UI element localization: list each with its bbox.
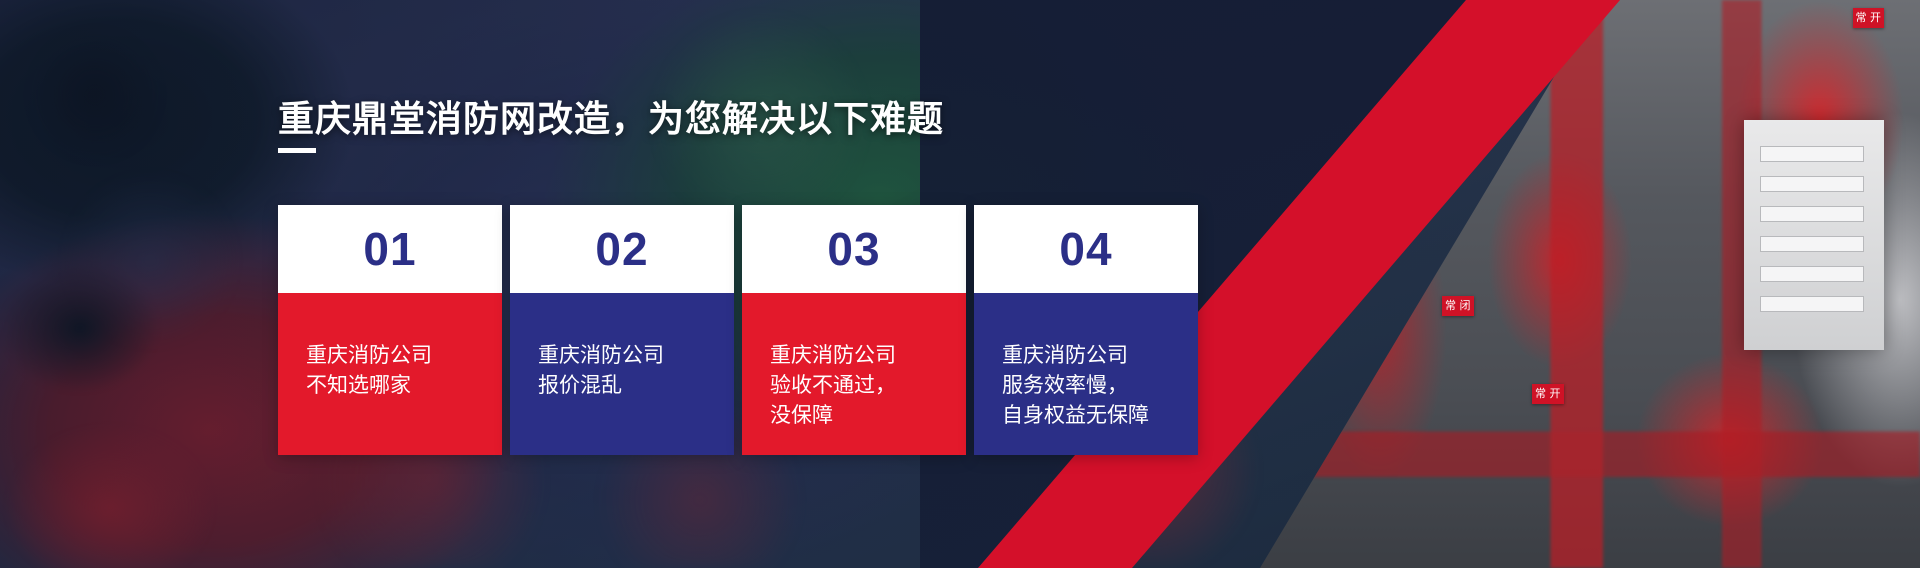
title-underline-rule (278, 148, 316, 153)
page-title: 重庆鼎堂消防网改造，为您解决以下难题 (278, 90, 944, 142)
problem-card-04[interactable]: 04 重庆消防公司 服务效率慢， 自身权益无保障 (974, 205, 1198, 455)
card-text-01: 重庆消防公司 不知选哪家 (278, 293, 502, 455)
card-text-02: 重庆消防公司 报价混乱 (510, 293, 734, 455)
problem-card-01[interactable]: 01 重庆消防公司 不知选哪家 (278, 205, 502, 455)
problem-card-02[interactable]: 02 重庆消防公司 报价混乱 (510, 205, 734, 455)
card-number-01: 01 (278, 205, 502, 293)
card-number-03: 03 (742, 205, 966, 293)
card-text-03: 重庆消防公司 验收不通过， 没保障 (742, 293, 966, 455)
card-number-02: 02 (510, 205, 734, 293)
problem-card-03[interactable]: 03 重庆消防公司 验收不通过， 没保障 (742, 205, 966, 455)
promo-banner: 常 开 常 闭 常 开 重庆鼎堂消防网改造，为您解决以下难题 01 重庆消防公司… (0, 0, 1920, 568)
card-number-04: 04 (974, 205, 1198, 293)
banner-content: 重庆鼎堂消防网改造，为您解决以下难题 01 重庆消防公司 不知选哪家 02 重庆… (0, 0, 1920, 568)
card-text-04: 重庆消防公司 服务效率慢， 自身权益无保障 (974, 293, 1198, 455)
problem-card-list: 01 重庆消防公司 不知选哪家 02 重庆消防公司 报价混乱 03 重庆消防公司… (278, 205, 1198, 455)
